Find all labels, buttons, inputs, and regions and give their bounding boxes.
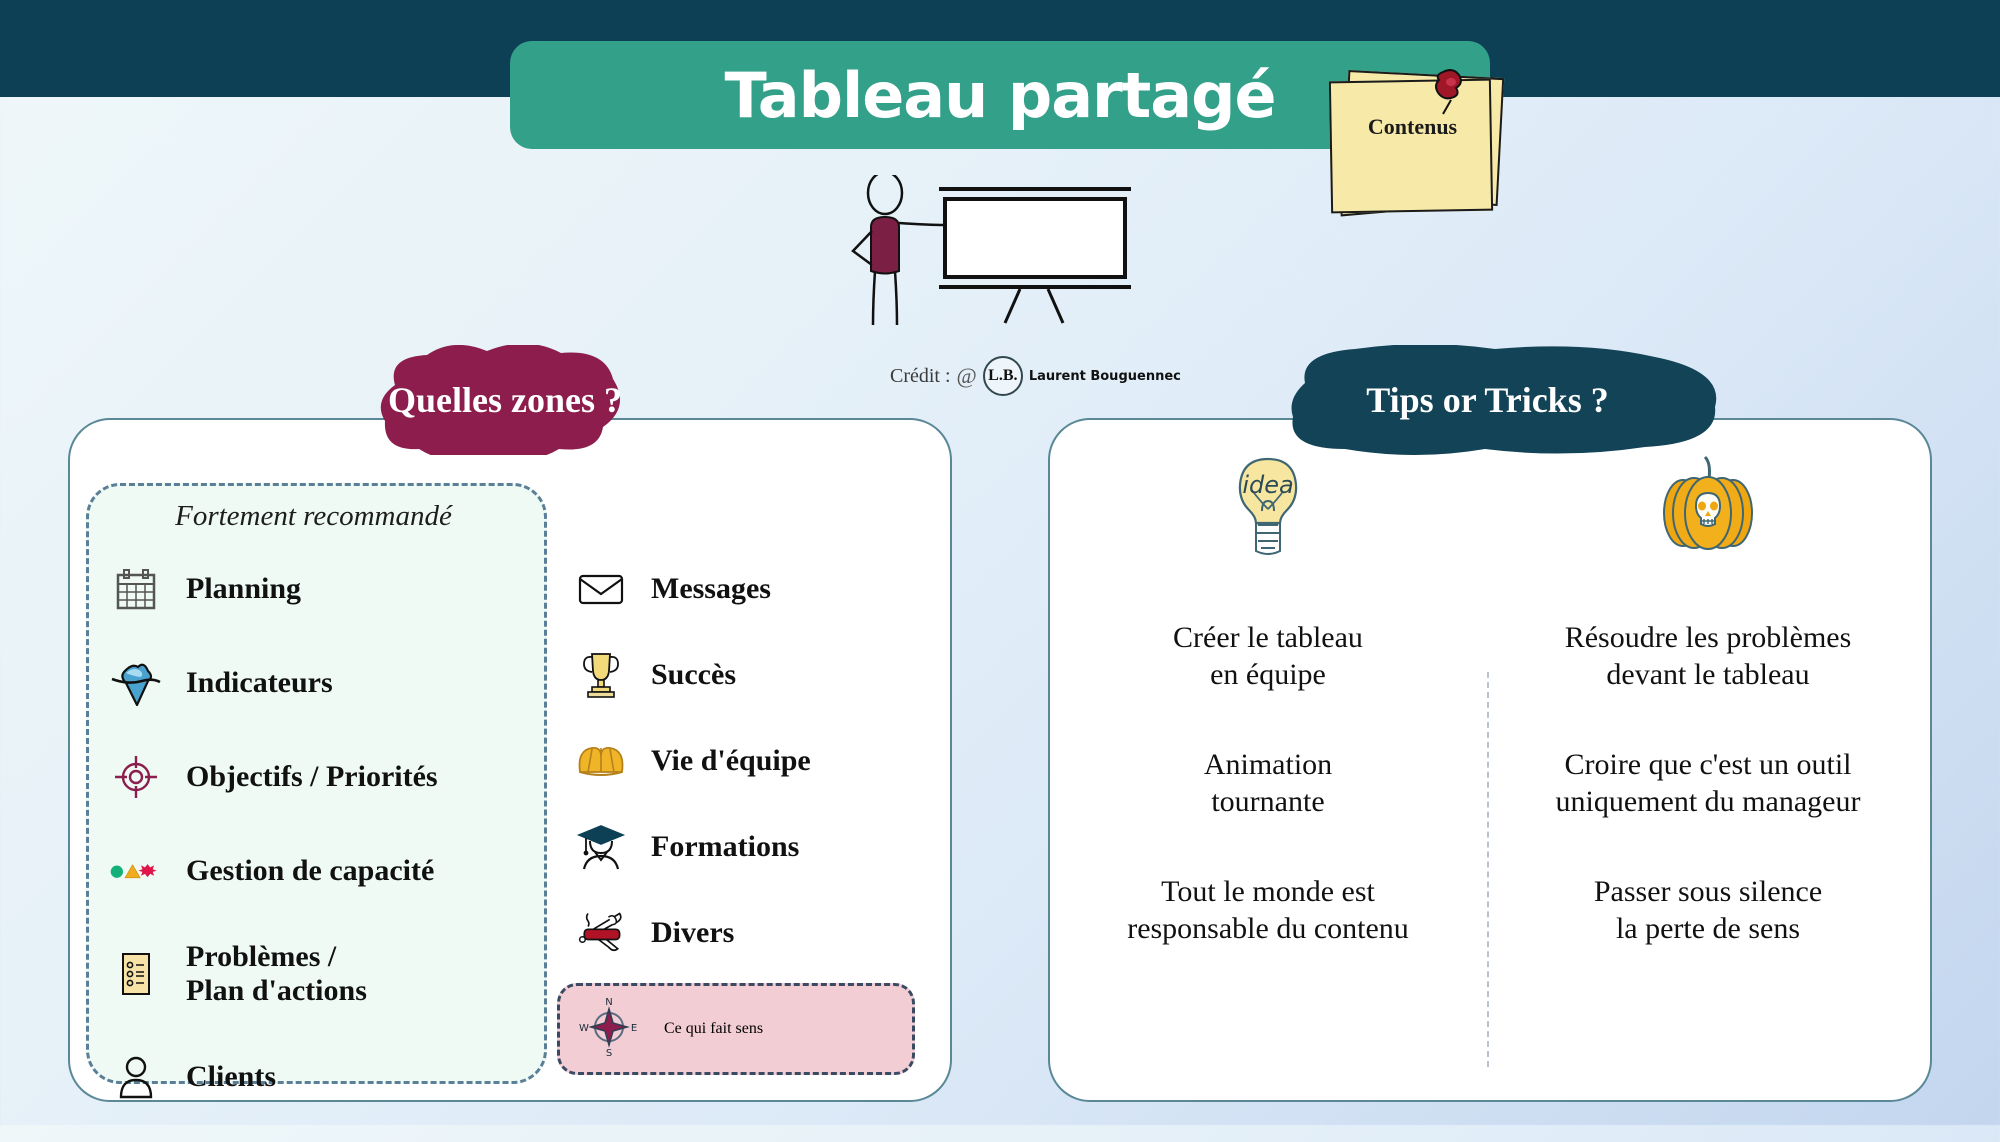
whiteboard-easel-icon — [845, 175, 1135, 330]
svg-text:E: E — [631, 1023, 637, 1034]
tips-column: idea Créer le tableau en équipe Animatio… — [1048, 430, 1488, 1098]
list-item[interactable]: Clients — [110, 1048, 530, 1106]
list-item[interactable]: Indicateurs — [110, 654, 530, 712]
list-item-label: Divers — [651, 916, 734, 950]
list-item[interactable]: Problèmes / Plan d'actions — [110, 936, 530, 1012]
list-item[interactable]: Divers — [575, 904, 935, 962]
list-item-label: Gestion de capacité — [186, 854, 434, 888]
tip-text: Animation tournante — [1204, 747, 1332, 820]
blob-left-label: Quelles zones ? — [388, 379, 622, 421]
list-item-label: Objectifs / Priorités — [186, 760, 438, 794]
page-title: Tableau partagé — [724, 59, 1275, 132]
svg-text:S: S — [606, 1048, 612, 1058]
list-item[interactable]: Messages — [575, 560, 935, 618]
credit: Crédit : @ L.B. Laurent Bouguennec — [890, 356, 1181, 396]
svg-text:N: N — [605, 997, 612, 1008]
zones-column-b: Messages Succès Vie d'équipe — [575, 560, 935, 962]
pushpin-icon — [1421, 62, 1481, 127]
envelope-icon — [575, 571, 627, 607]
credit-prefix: Crédit : — [890, 365, 951, 388]
blob-quelles-zones: Quelles zones ? — [355, 345, 655, 455]
avatar: L.B. — [983, 356, 1023, 396]
sticky-note: Contenus — [1325, 62, 1500, 212]
croissant-icon — [575, 744, 627, 778]
list-item[interactable]: Succès — [575, 646, 935, 704]
tricks-column: Résoudre les problèmes devant le tableau… — [1488, 430, 1928, 1098]
tips-grid: idea Créer le tableau en équipe Animatio… — [1048, 430, 1928, 1098]
list-item-label: Messages — [651, 572, 771, 606]
zones-column-a: Planning Indicateurs Objectifs / Priorit… — [110, 560, 530, 1142]
trophy-icon — [575, 650, 627, 700]
tip-text: Tout le monde est responsable du contenu — [1127, 874, 1409, 947]
blob-right-label: Tips or Tricks ? — [1366, 379, 1608, 421]
at-icon: @ — [957, 363, 977, 389]
list-item[interactable]: Formations — [575, 818, 935, 876]
person-icon — [110, 1054, 162, 1100]
list-item-label: Planning — [186, 572, 301, 606]
compass-rose-icon: N S E W — [578, 996, 640, 1063]
swiss-army-knife-icon — [575, 908, 627, 958]
trick-text: Passer sous silence la perte de sens — [1594, 874, 1822, 947]
graduate-icon — [575, 824, 627, 870]
list-item-label: Vie d'équipe — [651, 744, 811, 778]
list-item-label: Succès — [651, 658, 736, 692]
svg-text:W: W — [579, 1023, 589, 1034]
recommended-title: Fortement recommandé — [86, 500, 541, 533]
lightbulb-text: idea — [1242, 471, 1293, 499]
list-item[interactable]: Objectifs / Priorités — [110, 748, 530, 806]
pumpkin-skull-icon — [1653, 452, 1763, 562]
target-icon — [110, 754, 162, 800]
status-shapes-icon — [110, 858, 162, 884]
list-item-label: Clients — [186, 1060, 276, 1094]
highlight-ce-qui-fait-sens[interactable]: N S E W Ce qui fait sens — [557, 983, 915, 1075]
iceberg-icon — [110, 660, 162, 706]
credit-name: Laurent Bouguennec — [1029, 369, 1181, 384]
list-item-label: Indicateurs — [186, 666, 333, 700]
list-item-label: Formations — [651, 830, 799, 864]
trick-text: Croire que c'est un outil uniquement du … — [1556, 747, 1861, 820]
tip-text: Créer le tableau en équipe — [1173, 620, 1363, 693]
highlight-label: Ce qui fait sens — [664, 1020, 763, 1038]
calendar-icon — [110, 567, 162, 611]
lightbulb-idea-icon: idea — [1220, 452, 1316, 562]
trick-text: Résoudre les problèmes devant le tableau — [1565, 620, 1852, 693]
checklist-icon — [110, 951, 162, 997]
list-item[interactable]: Vie d'équipe — [575, 732, 935, 790]
list-item[interactable]: Planning — [110, 560, 530, 618]
list-item[interactable]: Gestion de capacité — [110, 842, 530, 900]
list-item-label: Problèmes / Plan d'actions — [186, 940, 367, 1007]
